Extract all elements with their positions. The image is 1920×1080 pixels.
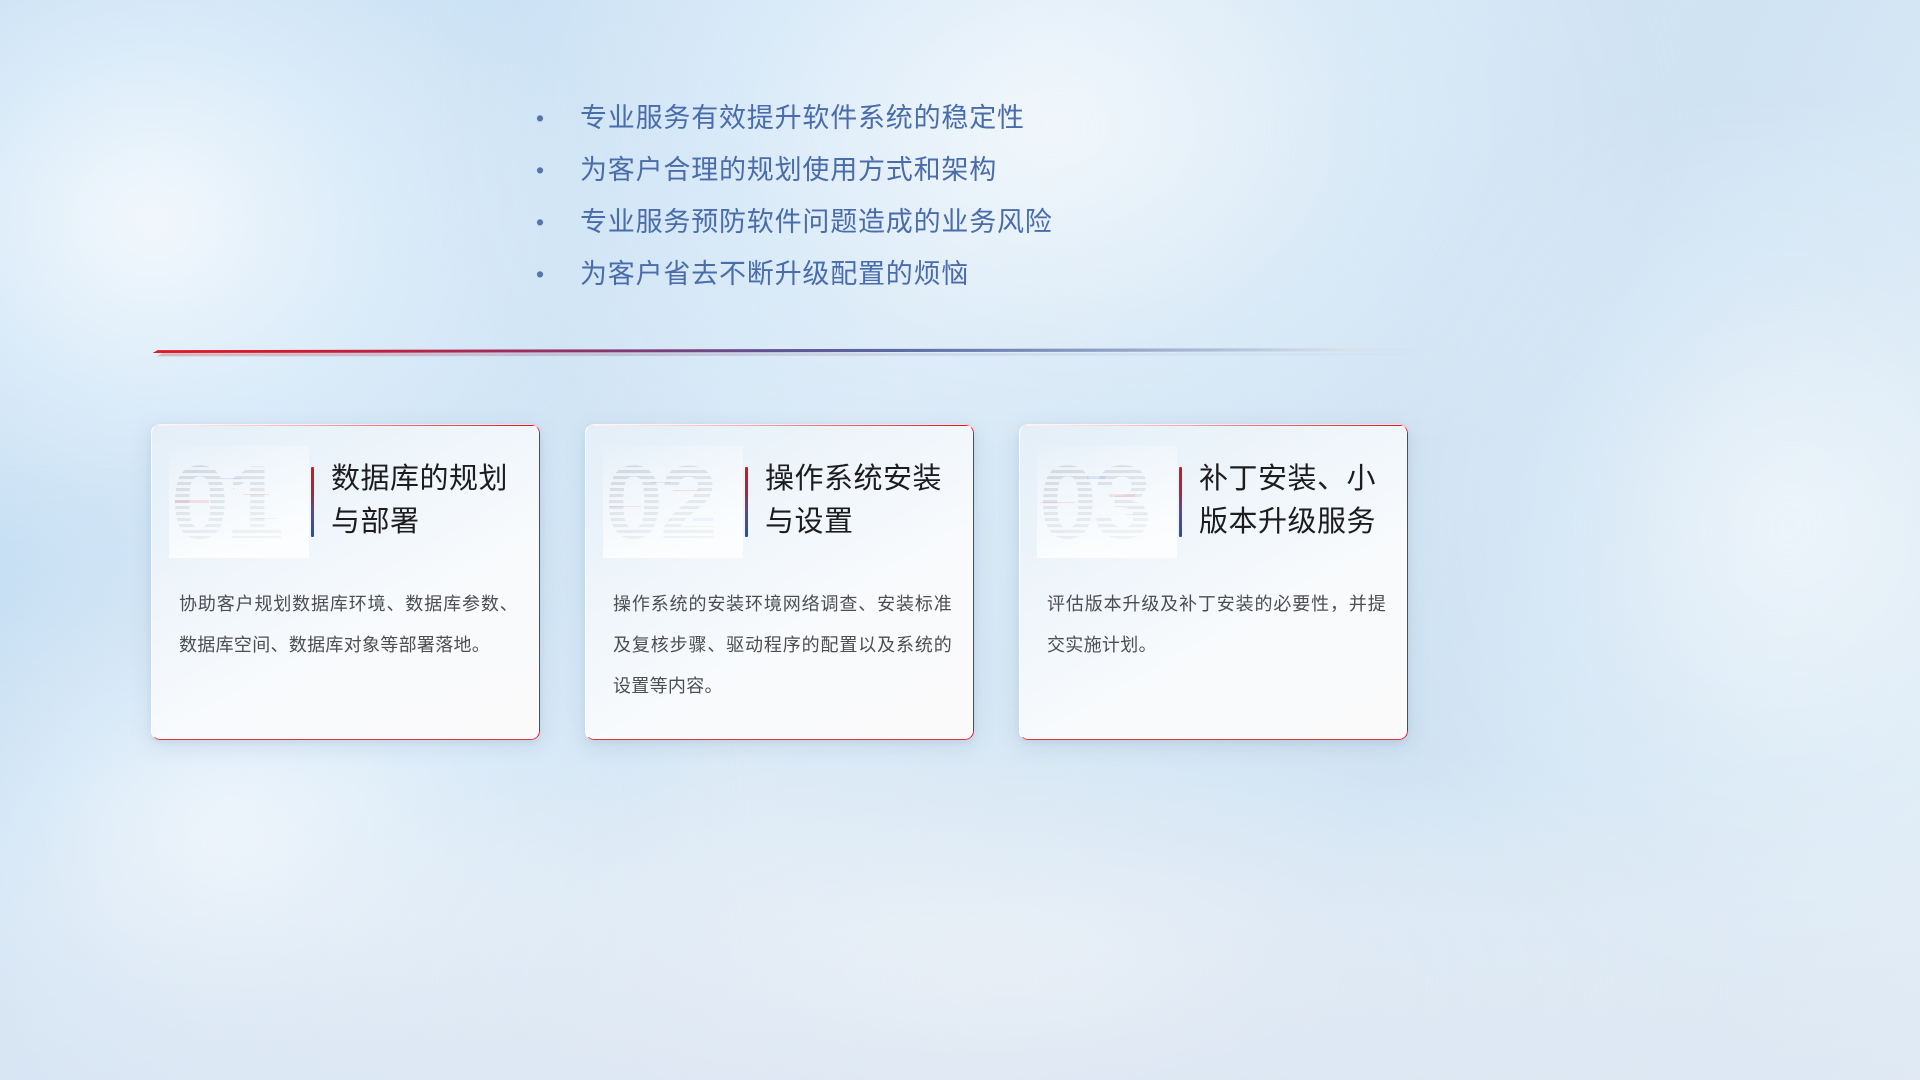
card-number-01-striped-icon: 01 xyxy=(169,446,309,558)
list-item: • 专业服务预防软件问题造成的业务风险 xyxy=(536,196,1356,248)
service-card-03[interactable]: 03 补丁安装、小版本升级服务 评估版本升级及补丁安装的必要性，并提交实施计划。 xyxy=(1019,424,1408,740)
bullet-dot-icon: • xyxy=(536,248,580,300)
bullet-text: 专业服务有效提升软件系统的稳定性 xyxy=(580,92,1025,144)
bullet-text: 为客户合理的规划使用方式和架构 xyxy=(580,144,997,196)
list-item: • 专业服务有效提升软件系统的稳定性 xyxy=(536,92,1356,144)
card-title: 操作系统安装与设置 xyxy=(765,458,965,544)
card-accent-bar xyxy=(311,467,314,537)
service-card-01[interactable]: 01 数据库的规划与部署 协助客户规划数据库环境、数据库参数、数据库空间、数据库… xyxy=(151,424,540,740)
service-card-02[interactable]: 02 操作系统安装与设置 操作系统的安装环境网络调查、安装标准及复核步骤、驱动程… xyxy=(585,424,974,740)
card-row: 01 数据库的规划与部署 协助客户规划数据库环境、数据库参数、数据库空间、数据库… xyxy=(151,424,1561,744)
list-item: • 为客户合理的规划使用方式和架构 xyxy=(536,144,1356,196)
background-bottom-tint xyxy=(0,780,1920,1080)
list-item: • 为客户省去不断升级配置的烦恼 xyxy=(536,248,1356,300)
bullet-text: 为客户省去不断升级配置的烦恼 xyxy=(580,248,969,300)
card-accent-bar xyxy=(745,467,748,537)
card-body-text: 评估版本升级及补丁安装的必要性，并提交实施计划。 xyxy=(1047,584,1386,666)
card-accent-bar xyxy=(1179,467,1182,537)
card-number-03-striped-icon: 03 xyxy=(1037,446,1177,558)
card-body-text: 协助客户规划数据库环境、数据库参数、数据库空间、数据库对象等部署落地。 xyxy=(179,584,518,666)
bullet-dot-icon: • xyxy=(536,196,580,248)
bullet-dot-icon: • xyxy=(536,144,580,196)
card-title: 补丁安装、小版本升级服务 xyxy=(1199,458,1399,544)
divider-line xyxy=(150,348,1440,353)
section-divider xyxy=(150,344,1440,360)
card-title: 数据库的规划与部署 xyxy=(331,458,531,544)
bullet-dot-icon: • xyxy=(536,92,580,144)
card-header: 02 操作系统安装与设置 xyxy=(585,424,974,582)
card-header: 01 数据库的规划与部署 xyxy=(151,424,540,582)
card-header: 03 补丁安装、小版本升级服务 xyxy=(1019,424,1408,582)
divider-shadow xyxy=(150,353,1440,357)
card-number-02-striped-icon: 02 xyxy=(603,446,743,558)
bullet-list: • 专业服务有效提升软件系统的稳定性 • 为客户合理的规划使用方式和架构 • 专… xyxy=(536,92,1356,300)
card-body-text: 操作系统的安装环境网络调查、安装标准及复核步骤、驱动程序的配置以及系统的设置等内… xyxy=(613,584,952,707)
bullet-text: 专业服务预防软件问题造成的业务风险 xyxy=(580,196,1053,248)
